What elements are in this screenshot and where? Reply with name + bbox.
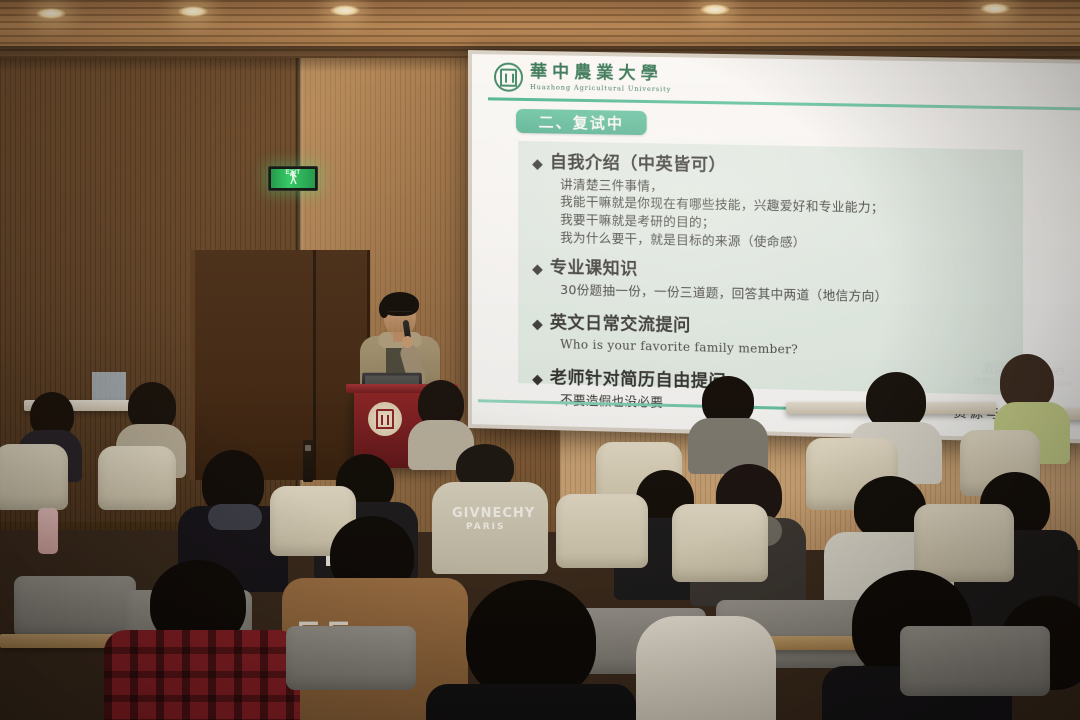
emergency-exit-sign: EXIT — [268, 166, 318, 191]
attendee-garment — [636, 616, 776, 720]
auditorium-chair — [14, 576, 136, 638]
block-heading: 英文日常交流提问 — [550, 314, 691, 336]
university-seal-icon — [494, 62, 523, 92]
attendee-plaid — [104, 630, 300, 720]
block-heading: 专业课知识 — [550, 259, 638, 280]
diamond-bullet-icon: ◆ — [532, 372, 543, 386]
block-line: Who is your favorite family member? — [560, 336, 798, 359]
audience: E GIVNECHY PARIS — [0, 420, 1080, 720]
slide-block: ◆ 英文日常交流提问 Who is your favorite family m… — [532, 313, 798, 358]
ceiling-downlight — [330, 5, 360, 16]
apparel-brand-text: GIVNECHY — [452, 506, 535, 521]
block-line: 30份题抽一份，一份三道题，回答其中两道（地信方向） — [560, 281, 888, 306]
slide-canvas: 華中農業大學 Huazhong Agricultural University … — [472, 54, 1080, 439]
attendee-hair — [466, 580, 596, 700]
diamond-bullet-icon: ◆ — [532, 261, 543, 275]
university-logo: 華中農業大學 Huazhong Agricultural University — [494, 62, 671, 94]
auditorium-chair — [98, 446, 176, 510]
projected-slide: 華中農業大學 Huazhong Agricultural University … — [472, 54, 1080, 439]
ceiling-downlight — [980, 3, 1010, 14]
block-heading: 自我介绍（中英皆可） — [550, 153, 726, 175]
diamond-bullet-icon: ◆ — [532, 156, 543, 170]
presenter-hand — [402, 336, 413, 348]
university-name-cn: 華中農業大學 — [530, 64, 671, 83]
block-heading: 老师针对简历自由提问 — [550, 369, 726, 392]
auditorium-chair — [556, 494, 648, 568]
auditorium-chair — [672, 504, 768, 582]
slide-block: ◆ 专业课知识 30份题抽一份，一份三道题，回答其中两道（地信方向） — [532, 258, 888, 305]
header-rule — [488, 97, 1080, 110]
slide-section-label: 二、复试中 — [539, 111, 624, 134]
auditorium-chair — [0, 444, 68, 510]
university-name-en: Huazhong Agricultural University — [530, 84, 671, 93]
apparel-brand-sub: PARIS — [466, 522, 506, 532]
presenter-glasses — [388, 311, 412, 318]
water-bottle — [38, 508, 58, 554]
slide-body-panel: ◆ 自我介绍（中英皆可） 讲清楚三件事情， 我能干嘛就是你现在有哪些技能，兴趣爱… — [518, 141, 1023, 395]
attendee-torso — [426, 684, 636, 720]
auditorium-chair — [914, 504, 1014, 582]
diamond-bullet-icon: ◆ — [532, 316, 543, 330]
attendee-collar — [208, 504, 262, 530]
projection-screen: 華中農業大學 Huazhong Agricultural University … — [468, 50, 1080, 444]
auditorium-chair — [900, 626, 1050, 696]
ceiling-downlight — [178, 6, 208, 17]
slide-header: 華中農業大學 Huazhong Agricultural University — [472, 54, 1080, 110]
slide-block: ◆ 自我介绍（中英皆可） 讲清楚三件事情， 我能干嘛就是你现在有哪些技能，兴趣爱… — [532, 153, 884, 253]
auditorium-chair — [286, 626, 416, 690]
ceiling-downlight — [700, 4, 730, 15]
lecture-hall-photo: EXIT 華中農業大學 Huazhong Agricultural Univer… — [0, 0, 1080, 720]
ceiling-downlight — [36, 8, 66, 19]
slide-section-tab: 二、复试中 — [516, 109, 647, 135]
